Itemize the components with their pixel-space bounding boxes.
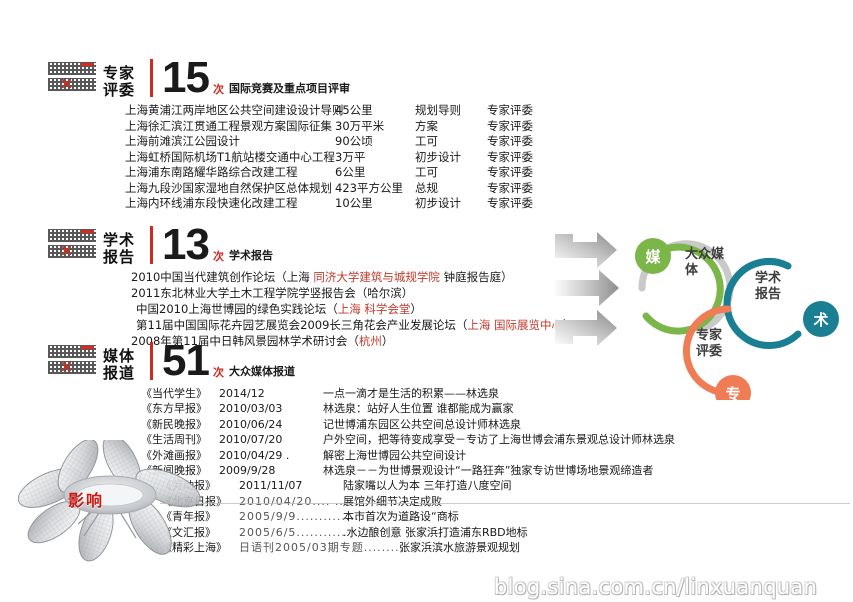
label-media-line2: 体 — [685, 263, 724, 279]
section-count-academic: 13 — [162, 224, 209, 266]
cell-media-title: 一点一滴才是生活的积累——林选泉 — [323, 386, 499, 401]
cell-project-name: 上海虹桥国际机场T1航站楼交通中心工程 — [125, 150, 335, 166]
brand-logo-icon — [48, 229, 96, 259]
list-item: 《文汇报》 2005/6/5........... .水边酿创意 张家浜打造浦东… — [141, 525, 675, 540]
cell-media-date: 2014/12 — [219, 386, 323, 401]
cell-media-title: 张家浜滨水旅游景观规划 — [399, 540, 520, 555]
label-expert-line1: 专家 — [696, 328, 722, 344]
cell-project-size: 45公里 — [335, 103, 415, 119]
bubble-expert-label: 专 — [715, 375, 751, 411]
cell-media-date: 2010/04/20.... ... — [239, 494, 343, 509]
list-item: 《生活周刊》 2010/07/20 户外空间，把等待变成享受－专访了上海世博会浦… — [141, 432, 675, 447]
cell-media-title: 林选泉－－为世博景观设计“一路狂奔”独家专访世博场地景观缔造者 — [323, 463, 653, 478]
cell-media-title: 陆家嘴以人为本 三年打造八度空间 — [343, 478, 512, 493]
cell-media-title: 记世博浦东园区公共空间总设计师林选泉 — [323, 417, 521, 432]
section-count-expert: 15 — [162, 57, 209, 99]
cell-project-size: 90公顷 — [335, 134, 415, 150]
bubble-media-label: 媒 — [635, 238, 671, 274]
cell-project-name: 上海浦东南路耀华路综合改建工程 — [125, 165, 335, 181]
list-item: 《东方早报》 2010/03/03 林选泉：站好人生位置 谁都能成为赢家 — [141, 401, 675, 416]
section-count-media: 51 — [162, 340, 209, 382]
arrow-up-icon — [555, 232, 617, 268]
divider-bar — [150, 226, 153, 264]
section-label-expert: 专家 评委 — [103, 65, 141, 99]
wireframe-flower-graphic — [18, 440, 208, 570]
cell-project-size: 30万平米 — [335, 119, 415, 135]
cell-project-name: 上海前滩滨江公园设计 — [125, 134, 335, 150]
cell-project-role: 专家评委 — [487, 165, 557, 181]
cell-media-title: .水边酿创意 张家浜打造浦东RBD地标 — [343, 525, 528, 540]
bubble-academic-text: 术 — [813, 309, 828, 330]
cell-project-type: 总规 — [415, 181, 487, 197]
table-row: 上海内环线浦东段快速化改建工程 10公里 初步设计 专家评委 — [125, 196, 557, 212]
bubble-academic-label: 术 — [803, 301, 839, 337]
cell-project-size: 6公里 — [335, 165, 415, 181]
cell-project-type: 规划导则 — [415, 103, 487, 119]
brand-logo-icon — [48, 62, 96, 92]
section-desc-academic: 学术报告 — [229, 247, 273, 263]
section-header-expert: 专家 评委 15 次 国际竞赛及重点项目评审 — [48, 55, 557, 99]
flower-svg — [18, 440, 208, 570]
line-text: 钟庭报告庭） — [440, 270, 513, 284]
cell-project-role: 专家评委 — [487, 196, 557, 212]
cell-project-role: 专家评委 — [487, 134, 557, 150]
horizontal-divider — [160, 503, 850, 504]
cell-project-type: 方案 — [415, 119, 487, 135]
label-media-line1: 大众媒 — [685, 247, 724, 263]
section-label-line1: 学术 — [103, 232, 141, 249]
section-unit-expert: 次 — [213, 81, 224, 97]
cell-project-name: 上海九段沙国家湿地自然保护区总体规划 — [125, 181, 335, 197]
cell-project-size: 10公里 — [335, 196, 415, 212]
cell-media-title: 户外空间，把等待变成享受－专访了上海世博会浦东景观总设计师林选泉 — [323, 432, 675, 447]
section-label-line2: 报告 — [103, 249, 141, 266]
cell-project-type: 初步设计 — [415, 196, 487, 212]
venn-relationship-diagram: 媒 术 专 大众媒 体 学术 报告 专家 评委 — [612, 224, 853, 400]
list-item: 《劳动报》 2011/11/07 陆家嘴以人为本 三年打造八度空间 — [141, 478, 675, 493]
table-row: 上海虹桥国际机场T1航站楼交通中心工程 3万平 初步设计 专家评委 — [125, 150, 557, 166]
cell-media-date: 日语刊2005/03期专题......... — [239, 540, 399, 555]
cell-project-name: 上海内环线浦东段快速化改建工程 — [125, 196, 335, 212]
section-label-line2: 报道 — [103, 365, 141, 382]
section-desc-expert: 国际竞赛及重点项目评审 — [229, 80, 350, 96]
list-item: 中国2010上海世博园的绿色实践论坛（上海 科学会堂） — [131, 301, 575, 317]
section-label-line1: 专家 — [103, 65, 141, 82]
cell-project-type: 工可 — [415, 134, 487, 150]
cell-project-type: 工可 — [415, 165, 487, 181]
section-unit-media: 次 — [213, 364, 224, 380]
arrow-right-icon — [553, 270, 619, 306]
cell-media-source: 《新民晚报》 — [141, 417, 219, 432]
cell-media-date: 2005/6/5........... — [239, 525, 343, 540]
section-academic-report: 学术 报告 13 次 学术报告 2010中国当代建筑创作论坛（上海 同济大学建筑… — [48, 222, 575, 349]
section-label-line1: 媒体 — [103, 348, 141, 365]
cell-media-date: 2010/03/03 — [219, 401, 323, 416]
line-text: ） — [410, 302, 422, 316]
line-text: 第11届中国国际花卉园艺展览会2009长三角花会产业发展论坛（ — [136, 318, 467, 332]
cell-project-size: 423平方公里 — [335, 181, 415, 197]
bubble-media-text: 媒 — [645, 246, 660, 267]
section-label-media: 媒体 报道 — [103, 348, 141, 382]
cell-project-name: 上海徐汇滨江贯通工程景观方案国际征集 — [125, 119, 335, 135]
cell-media-date: 2010/06/24 — [219, 417, 323, 432]
expert-project-table: 上海黄浦江两岸地区公共空间建设设计导则 45公里 规划导则 专家评委 上海徐汇滨… — [125, 103, 557, 212]
cell-media-source: 《当代学生》 — [141, 386, 219, 401]
list-item: 《当代学生》 2014/12 一点一滴才是生活的积累——林选泉 — [141, 386, 675, 401]
impact-badge: 影响 — [68, 487, 104, 511]
line-text: 中国2010上海世博园的绿色实践论坛（ — [136, 302, 338, 316]
table-row: 上海九段沙国家湿地自然保护区总体规划 423平方公里 总规 专家评委 — [125, 181, 557, 197]
list-item: 第11届中国国际花卉园艺展览会2009长三角花会产业发展论坛（上海 国际展览中心… — [131, 317, 575, 333]
cell-media-date: 2010/04/29 . — [219, 448, 323, 463]
cell-project-size: 3万平 — [335, 150, 415, 166]
list-item: 《北京日报》 2010/04/20.... ... 展馆外细节决定成败 — [141, 494, 675, 509]
list-item: 《外滩画报》 2010/04/29 . 解密上海世博园公共空间设计 — [141, 448, 675, 463]
cell-media-date: 2011/11/07 — [239, 478, 343, 493]
media-coverage-list: 《当代学生》 2014/12 一点一滴才是生活的积累——林选泉 《东方早报》 2… — [141, 386, 675, 555]
list-item: 《精彩上海》 日语刊2005/03期专题......... 张家浜滨水旅游景观规… — [141, 540, 675, 555]
line-text: 2011东北林业大学土木工程学院学竖报告会（哈尔滨） — [131, 286, 413, 300]
label-academic-line1: 学术 — [755, 271, 781, 287]
section-unit-academic: 次 — [213, 248, 224, 264]
section-expert-jury: 专家 评委 15 次 国际竞赛及重点项目评审 上海黄浦江两岸地区公共空间建设设计… — [48, 55, 557, 212]
cell-project-role: 专家评委 — [487, 103, 557, 119]
cell-project-role: 专家评委 — [487, 150, 557, 166]
cell-media-title: 解密上海世博园公共空间设计 — [323, 448, 466, 463]
label-expert: 专家 评委 — [696, 328, 722, 360]
cell-media-title: 本市首次为道路设“商标 — [343, 509, 459, 524]
divider-bar — [150, 342, 153, 380]
cell-media-date: 2009/9/28 — [219, 463, 323, 478]
cell-project-name: 上海黄浦江两岸地区公共空间建设设计导则 — [125, 103, 335, 119]
cell-media-title: 林选泉：站好人生位置 谁都能成为赢家 — [323, 401, 514, 416]
poster-canvas: 专家 评委 15 次 国际竞赛及重点项目评审 上海黄浦江两岸地区公共空间建设设计… — [0, 0, 853, 602]
cell-project-role: 专家评委 — [487, 181, 557, 197]
table-row: 上海浦东南路耀华路综合改建工程 6公里 工可 专家评委 — [125, 165, 557, 181]
label-academic-line2: 报告 — [755, 287, 781, 303]
list-item: 《新民晚报》 2010/06/24 记世博浦东园区公共空间总设计师林选泉 — [141, 417, 675, 432]
bubble-expert-text: 专 — [725, 383, 740, 404]
cell-media-title: 展馆外细节决定成败 — [343, 494, 442, 509]
label-media: 大众媒 体 — [685, 247, 724, 279]
section-desc-media: 大众媒体报道 — [229, 363, 295, 379]
line-highlight: 上海 科学会堂 — [338, 302, 411, 316]
table-row: 上海黄浦江两岸地区公共空间建设设计导则 45公里 规划导则 专家评委 — [125, 103, 557, 119]
cell-project-role: 专家评委 — [487, 119, 557, 135]
list-item: 《新闻晚报》 2009/9/28 林选泉－－为世博景观设计“一路狂奔”独家专访世… — [141, 463, 675, 478]
divider-bar — [150, 59, 153, 97]
list-item: 2011东北林业大学土木工程学院学竖报告会（哈尔滨） — [131, 285, 575, 301]
cell-media-date: 2010/07/20 — [219, 432, 323, 447]
section-label-academic: 学术 报告 — [103, 232, 141, 266]
line-text: 2010中国当代建筑创作论坛（上海 — [131, 270, 313, 284]
line-highlight: 同济大学建筑与城规学院 — [313, 270, 440, 284]
list-item: 《青年报》 2005/9/9............... 本市首次为道路设“商… — [141, 509, 675, 524]
arrow-down-icon — [555, 310, 617, 346]
label-academic: 学术 报告 — [755, 271, 781, 303]
line-highlight: 上海 国际展览中心 — [467, 318, 563, 332]
list-item: 2010中国当代建筑创作论坛（上海 同济大学建筑与城规学院 钟庭报告庭） — [131, 269, 575, 285]
brand-logo-icon — [48, 345, 96, 375]
table-row: 上海前滩滨江公园设计 90公顷 工可 专家评委 — [125, 134, 557, 150]
cell-media-source: 《东方早报》 — [141, 401, 219, 416]
watermark-url: blog.sina.com.cn/linxuanquan — [494, 575, 817, 599]
section-label-line2: 评委 — [103, 82, 141, 99]
table-row: 上海徐汇滨江贯通工程景观方案国际征集 30万平米 方案 专家评委 — [125, 119, 557, 135]
cell-media-date: 2005/9/9............... — [239, 509, 343, 524]
section-header-academic: 学术 报告 13 次 学术报告 — [48, 222, 575, 266]
cell-project-type: 初步设计 — [415, 150, 487, 166]
label-expert-line2: 评委 — [696, 344, 722, 360]
